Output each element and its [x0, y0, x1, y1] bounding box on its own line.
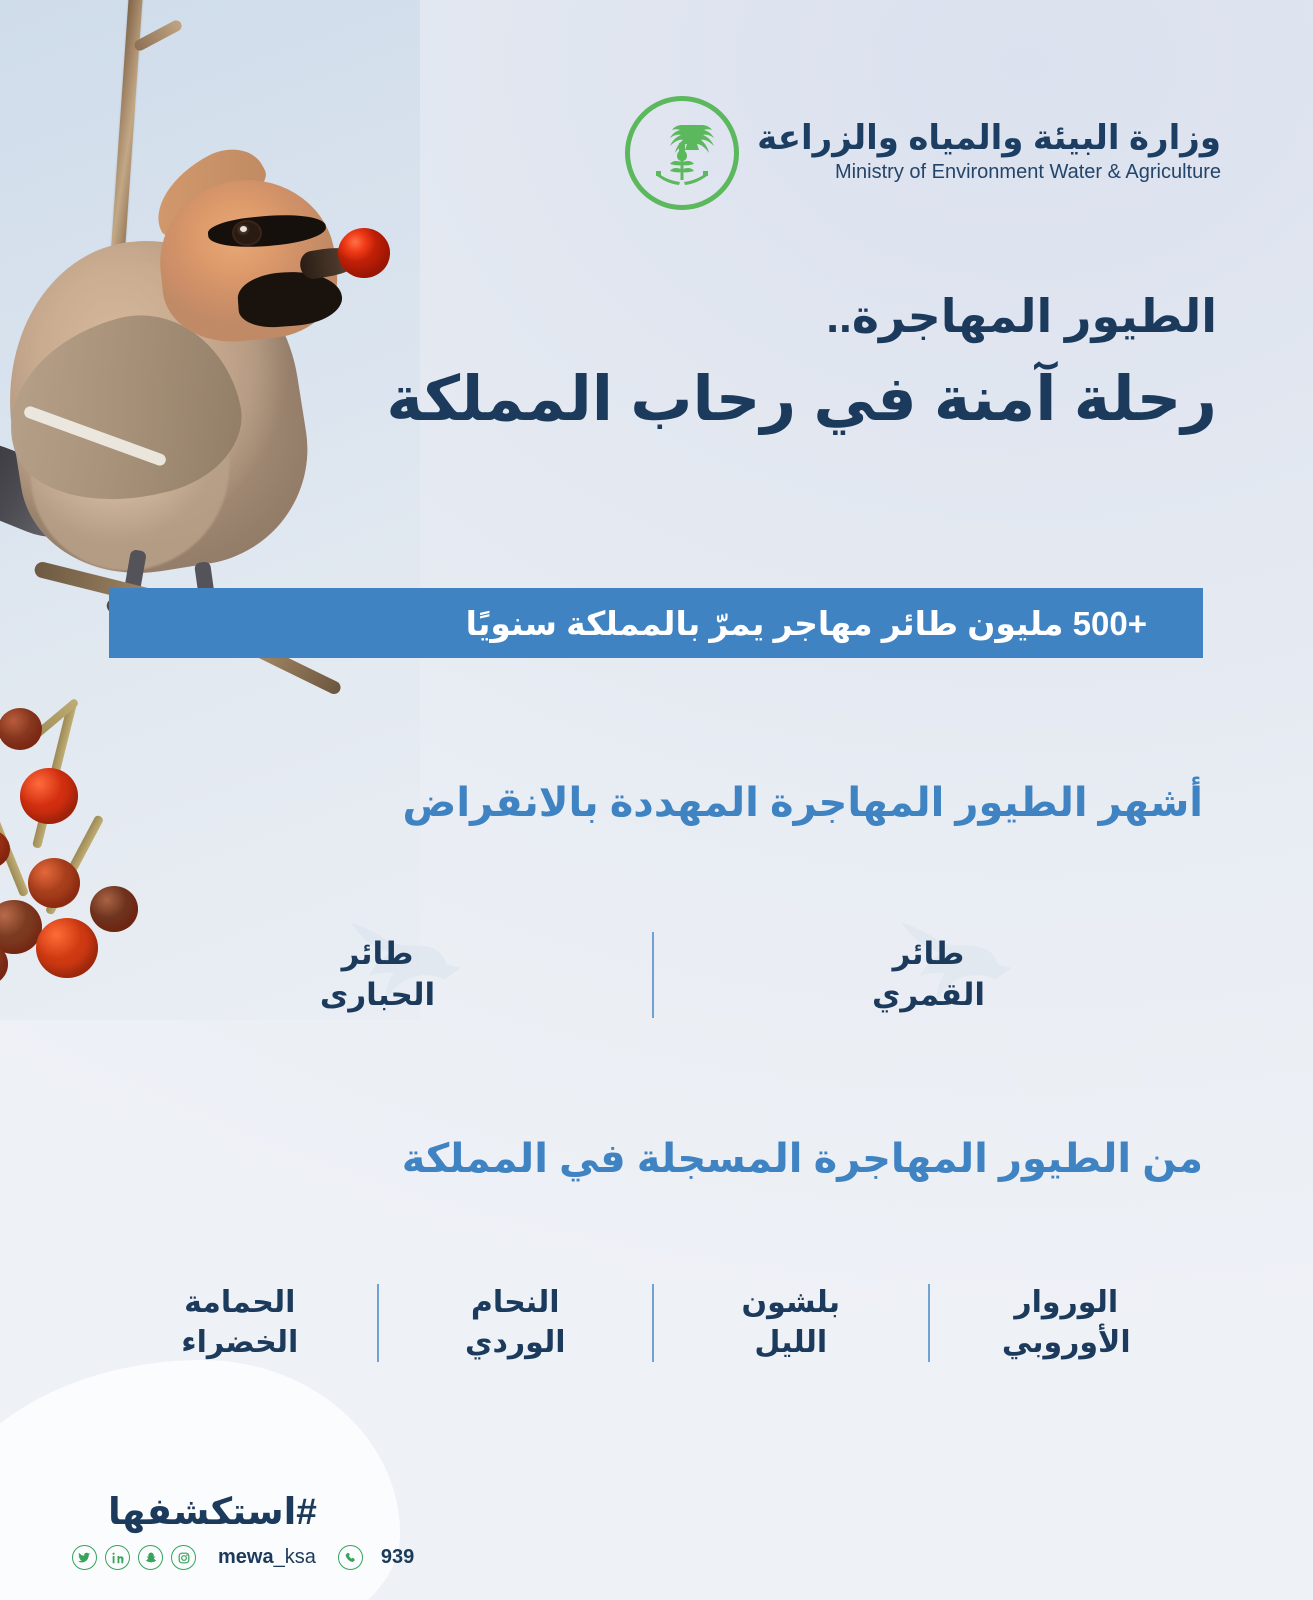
registered-bird-item-nuham: النحام الوردي [379, 1255, 653, 1390]
endangered-bird-item-qumri: طائر القمري [654, 905, 1203, 1045]
registered-bird-line-1: الوروار [1002, 1283, 1131, 1323]
registered-bird-line-2: الوردي [465, 1323, 566, 1363]
berry [0, 708, 42, 750]
registered-bird-line-2: الأوروبي [1002, 1323, 1131, 1363]
registered-bird-item-warwar: الوروار الأوروبي [930, 1255, 1204, 1390]
campaign-hashtag: #استكشفها [72, 1490, 532, 1533]
statistic-text: +500 مليون طائر مهاجر يمرّ بالمملكة سنوي… [466, 604, 1147, 643]
endangered-bird-line-2: الحبارى [320, 975, 435, 1016]
registered-bird-label: بلشون الليل [742, 1283, 840, 1362]
social-handle: mewa_ksa [218, 1546, 316, 1569]
bird-photograph [0, 0, 420, 1020]
contact-phone-number: 939 [381, 1546, 414, 1569]
endangered-bird-item-hubara: طائر الحبارى [103, 905, 652, 1045]
section-title-registered: من الطيور المهاجرة المسجلة في المملكة [203, 1132, 1203, 1186]
registered-bird-line-1: الحمامة [181, 1283, 298, 1323]
endangered-bird-line-1: طائر [320, 934, 435, 975]
instagram-icon[interactable] [171, 1545, 196, 1570]
palm-tree-swords-emblem-icon [625, 96, 739, 210]
page-title: الطيور المهاجرة.. رحلة آمنة في رحاب المم… [217, 288, 1217, 440]
berry [28, 858, 80, 908]
statistic-banner: +500 مليون طائر مهاجر يمرّ بالمملكة سنوي… [109, 588, 1203, 658]
headline-line-2: رحلة آمنة في رحاب المملكة [217, 360, 1217, 441]
infographic-poster: وزارة البيئة والمياه والزراعة Ministry o… [0, 0, 1313, 1600]
endangered-bird-line-1: طائر [872, 934, 985, 975]
endangered-bird-line-2: القمري [872, 975, 985, 1016]
registered-bird-label: الحمامة الخضراء [181, 1283, 298, 1362]
berry [20, 768, 78, 824]
registered-bird-line-1: النحام [465, 1283, 566, 1323]
registered-bird-line-2: الخضراء [181, 1323, 298, 1363]
section-title-endangered: أشهر الطيور المهاجرة المهددة بالانقراض [203, 780, 1203, 826]
phone-icon[interactable] [338, 1545, 363, 1570]
vertical-divider [652, 1284, 654, 1362]
berry [36, 918, 98, 978]
vertical-divider [928, 1284, 930, 1362]
registered-bird-line-1: بلشون [742, 1283, 840, 1323]
headline-line-1: الطيور المهاجرة.. [217, 288, 1217, 346]
handle-bold: mewa [218, 1546, 274, 1568]
endangered-bird-label: طائر الحبارى [320, 934, 435, 1016]
endangered-bird-label: طائر القمري [872, 934, 985, 1016]
logo-arabic-name: وزارة البيئة والمياه والزراعة [757, 120, 1221, 157]
linkedin-icon[interactable] [105, 1545, 130, 1570]
handle-rest: _ksa [274, 1546, 316, 1568]
snapchat-icon[interactable] [138, 1545, 163, 1570]
red-berry-in-beak [338, 228, 390, 278]
vertical-divider [652, 932, 654, 1018]
registered-bird-label: النحام الوردي [465, 1283, 566, 1362]
ministry-logo: وزارة البيئة والمياه والزراعة Ministry o… [625, 96, 1221, 210]
registered-bird-label: الوروار الأوروبي [1002, 1283, 1131, 1362]
logo-text-block: وزارة البيئة والمياه والزراعة Ministry o… [757, 120, 1221, 186]
registered-bird-line-2: الليل [742, 1323, 840, 1363]
footer: #استكشفها mewa_ksa 939 [72, 1490, 532, 1570]
social-links-row: mewa_ksa 939 [72, 1545, 532, 1570]
registered-bird-item-balashon: بلشون الليل [654, 1255, 928, 1390]
bird-eye [232, 220, 262, 246]
twitter-icon[interactable] [72, 1545, 97, 1570]
endangered-birds-row: طائر القمري طائر الحبارى [103, 905, 1203, 1045]
vertical-divider [377, 1284, 379, 1362]
logo-english-name: Ministry of Environment Water & Agricult… [757, 159, 1221, 186]
